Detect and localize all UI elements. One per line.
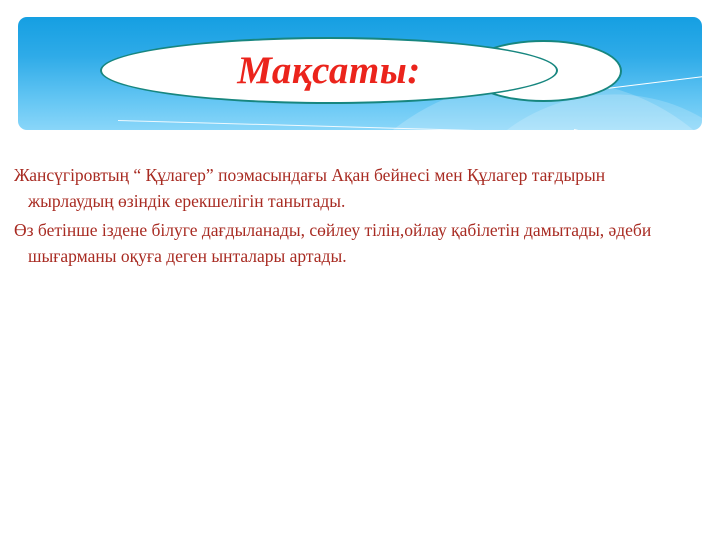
body-paragraph-1: Жансүгіровтың “ Құлагер” поэмасындағы Ақ… [14,162,652,214]
body-paragraph-2: Өз бетінше іздене білуге дағдыланады, сө… [14,217,652,269]
title-banner: Мақсаты: [18,17,702,130]
slide-title: Мақсаты: [100,37,558,104]
banner-swoosh-line-center [118,120,588,130]
banner-swoosh-line-bottom [574,129,702,130]
slide-body: Жансүгіровтың “ Құлагер” поэмасындағы Ақ… [0,162,660,272]
